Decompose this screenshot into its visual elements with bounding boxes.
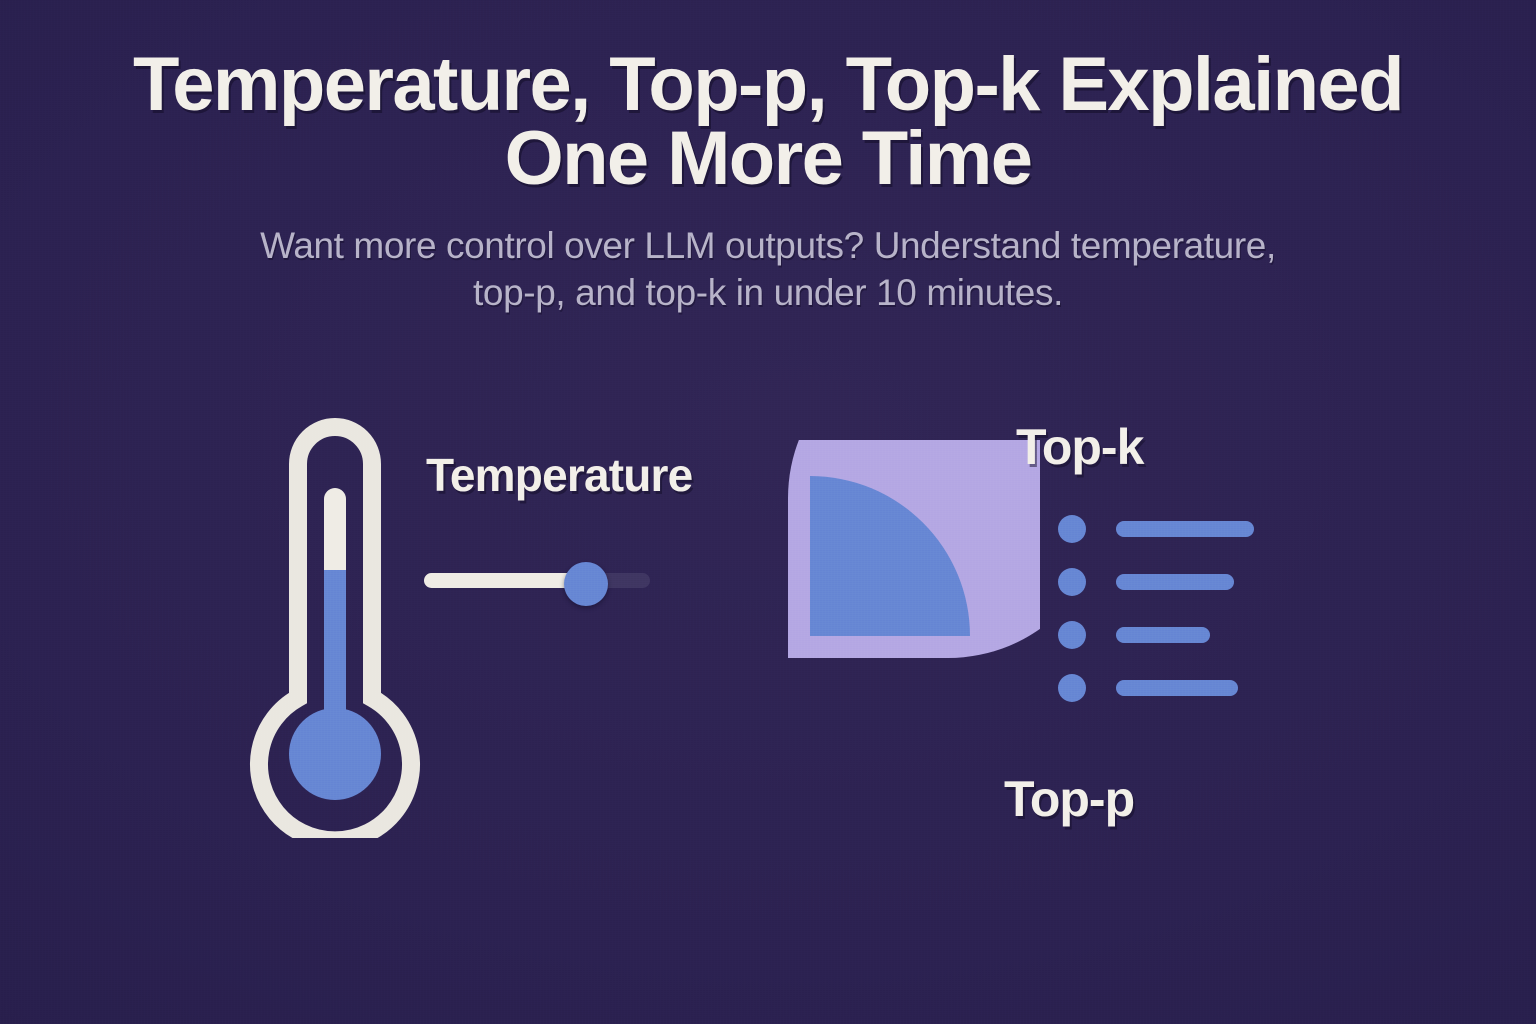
top-k-list xyxy=(1058,515,1278,705)
poster-canvas: Temperature, Top-p, Top-k Explained One … xyxy=(0,0,1536,1024)
list-item-bar xyxy=(1116,521,1254,537)
top-k-label: Top-k xyxy=(1016,418,1143,476)
list-item-bar xyxy=(1116,680,1238,696)
bullet-dot-icon xyxy=(1058,621,1086,649)
list-item-bar xyxy=(1116,574,1234,590)
list-item[interactable] xyxy=(1058,674,1238,702)
thermometer-bulb xyxy=(289,708,381,800)
bullet-dot-icon xyxy=(1058,674,1086,702)
list-item[interactable] xyxy=(1058,515,1254,543)
list-item[interactable] xyxy=(1058,568,1234,596)
thermometer-icon xyxy=(246,398,424,838)
list-item[interactable] xyxy=(1058,621,1210,649)
pie-chart-svg xyxy=(660,440,1040,830)
pie-chart xyxy=(660,440,1040,830)
top-p-label: Top-p xyxy=(1004,770,1134,828)
bullet-dot-icon xyxy=(1058,515,1086,543)
thermometer-svg xyxy=(246,398,424,838)
bullet-dot-icon xyxy=(1058,568,1086,596)
temperature-slider[interactable] xyxy=(424,566,650,594)
graphics-stage: Temperature Top-k xyxy=(0,0,1536,1024)
list-item-bar xyxy=(1116,627,1210,643)
temperature-label: Temperature xyxy=(426,448,692,502)
slider-thumb[interactable] xyxy=(564,562,608,606)
